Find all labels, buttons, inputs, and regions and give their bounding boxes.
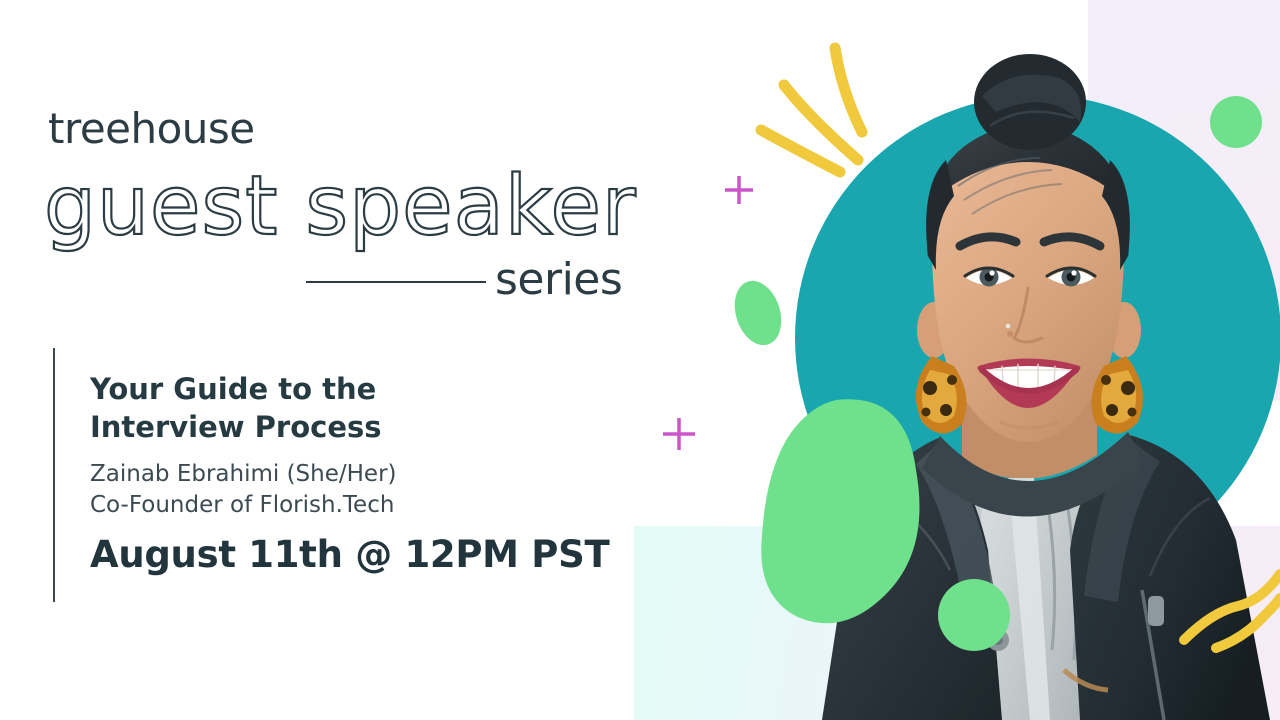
magenta-plus-icon [663, 418, 695, 450]
speaker-role: Co-Founder of Florish.Tech [90, 492, 394, 518]
magenta-plus-icon [725, 176, 753, 204]
talk-title: Your Guide to the Interview Process [90, 370, 520, 447]
vertical-divider-rule [53, 348, 55, 602]
talk-title-line-1: Your Guide to the [90, 370, 520, 408]
slide-text-column: treehouse guest speaker series Your Guid… [0, 0, 660, 720]
headline-text: guest speaker [44, 159, 637, 254]
headline-outline-text: guest speaker [30, 158, 670, 258]
speaker-name: Zainab Ebrahimi (She/Her) [90, 461, 397, 487]
talk-title-line-2: Interview Process [90, 408, 520, 446]
series-label: series [495, 254, 622, 305]
green-oval-shape [727, 275, 789, 351]
presentation-slide: treehouse guest speaker series Your Guid… [0, 0, 1280, 720]
event-datetime: August 11th @ 12PM PST [90, 533, 609, 576]
brand-wordmark: treehouse [48, 104, 255, 153]
series-divider-rule [306, 281, 486, 283]
speaker-portrait [812, 30, 1280, 720]
